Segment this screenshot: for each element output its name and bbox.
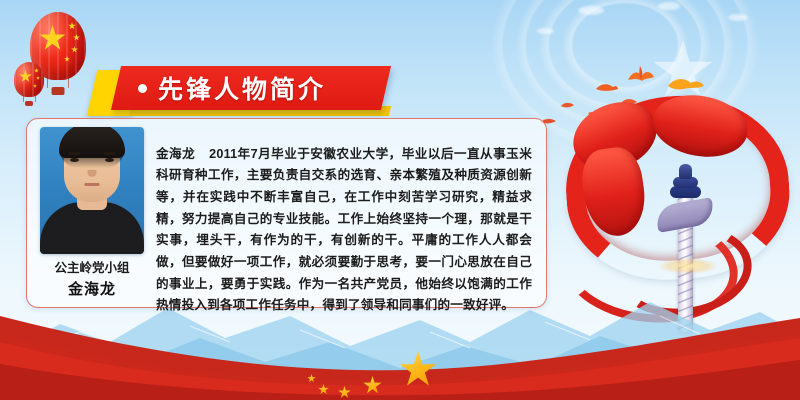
cloud-puff-icon	[658, 2, 680, 10]
hot-air-balloon-icon	[14, 62, 44, 97]
profile-text-column: 金海龙2011年7月毕业于安徽农业大学，毕业以后一直从事玉米科研育种工作，主要负…	[148, 127, 536, 299]
photo-caption-name: 金海龙	[68, 278, 116, 299]
avatar	[40, 127, 144, 254]
profile-name-lead: 金海龙	[156, 147, 195, 161]
dove-icon	[594, 80, 620, 96]
bullet-dot-icon	[138, 84, 147, 93]
dove-icon	[664, 74, 706, 96]
profile-photo-column: 公主岭党小组 金海龙	[36, 127, 148, 299]
cloud-puff-icon	[578, 6, 604, 15]
photo-caption-group: 公主岭党小组	[54, 261, 129, 276]
dove-flock-icon	[618, 64, 664, 94]
poster-canvas: 先锋人物简介	[0, 0, 800, 400]
page-title: 先锋人物简介	[138, 66, 326, 110]
profile-body-text: 2011年7月毕业于安徽农业大学，毕业以后一直从事玉米科研育种工作，主要负责自交…	[156, 147, 532, 313]
profile-panel: 公主岭党小组 金海龙 金海龙2011年7月毕业于安徽农业大学，毕业以后一直从事玉…	[26, 118, 547, 308]
cloud-puff-icon	[728, 14, 748, 21]
cloud-puff-icon	[537, 28, 554, 34]
page-title-text: 先锋人物简介	[158, 70, 326, 106]
profile-body: 金海龙2011年7月毕业于安徽农业大学，毕业以后一直从事玉米科研育种工作，主要负…	[156, 144, 532, 317]
